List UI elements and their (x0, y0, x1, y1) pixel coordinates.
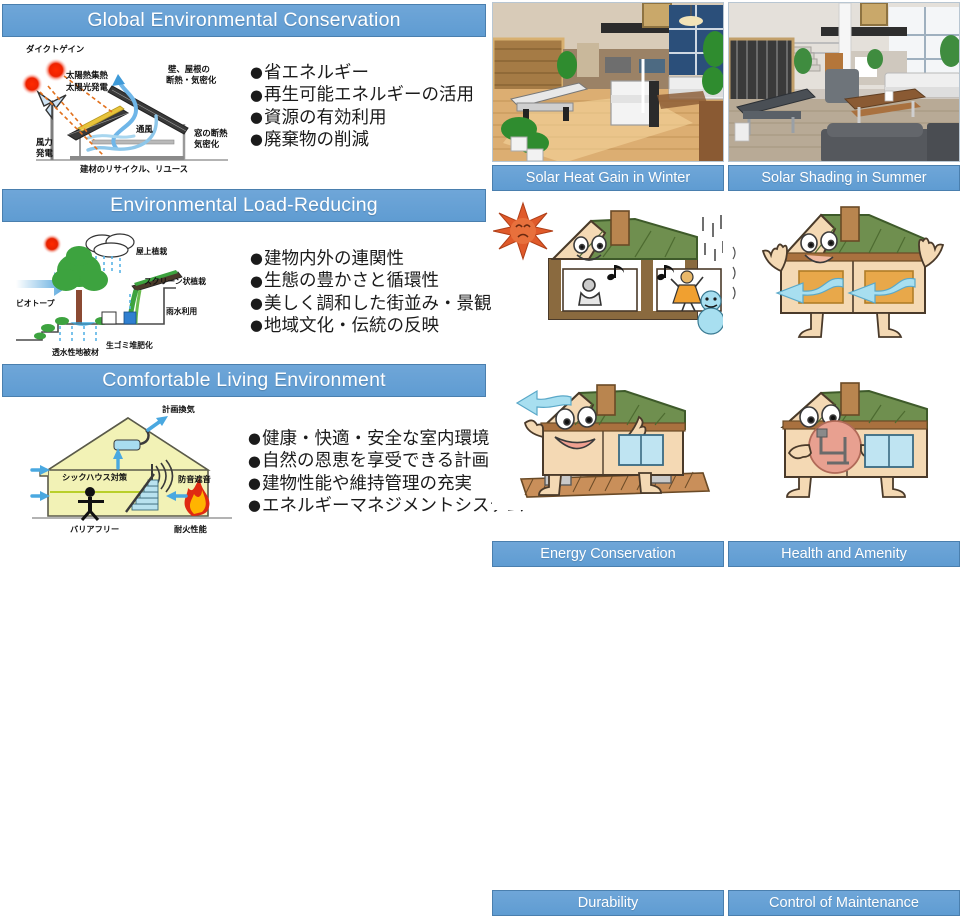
svg-text:ダイクトゲイン: ダイクトゲイン (26, 44, 84, 54)
svg-text:生ゴミ堆肥化: 生ゴミ堆肥化 (106, 340, 153, 350)
bullet-item: ●省エネルギー (250, 62, 369, 84)
bullet-item: ●自然の恩恵を享受できる計画 (248, 450, 489, 472)
svg-text:窓の断熱: 窓の断熱 (194, 128, 228, 138)
svg-text:風力: 風力 (36, 137, 53, 147)
bullet-item: ●地域文化・伝統の反映 (250, 315, 439, 337)
bullet-item: ●資源の有効利用 (250, 107, 386, 129)
bullet-item: ●生態の豊かさと循環性 (250, 270, 439, 292)
svg-text:透水性地被材: 透水性地被材 (52, 347, 99, 356)
bullet-marker-icon: ● (248, 474, 261, 492)
svg-text:通風: 通風 (136, 124, 153, 134)
svg-text:シックハウス対策: シックハウス対策 (62, 472, 128, 482)
svg-text:計画換気: 計画換気 (162, 404, 196, 414)
bullet-marker-icon: ● (250, 249, 263, 267)
bullet-marker-icon: ● (250, 294, 263, 312)
svg-text:耐火性能: 耐火性能 (174, 524, 208, 534)
svg-text:太陽光発電: 太陽光発電 (65, 82, 108, 92)
svg-text:壁、屋根の: 壁、屋根の (168, 64, 210, 74)
svg-text:防音遮音: 防音遮音 (178, 474, 211, 484)
panel-title-1: Global Environmental Conservation (2, 4, 486, 37)
bullet-item: ●健康・快適・安全な室内環境 (248, 428, 489, 450)
panel-title-2: Environmental Load-Reducing (2, 189, 486, 222)
bullet-item: ●建物内外の連関性 (250, 248, 404, 270)
bullet-item: ●エネルギーマネジメントシステム (248, 495, 524, 517)
card-caption: Health and Amenity (728, 541, 960, 567)
svg-text:スクリーン状植栽: スクリーン状植栽 (144, 276, 206, 286)
svg-text:発電: 発電 (35, 148, 53, 158)
panel-title-3: Comfortable Living Environment (2, 364, 486, 397)
card-caption: Energy Conservation (492, 541, 724, 567)
svg-text:気密化: 気密化 (194, 139, 220, 149)
svg-text:ビオトープ: ビオトープ (16, 298, 55, 308)
left-column: Global Environmental Conservation (0, 0, 490, 540)
panel-3-bullet-list: ●健康・快適・安全な室内環境 ●自然の恩恵を享受できる計画 ●建物性能や維持管理… (248, 428, 524, 518)
house-sketch-durability (492, 378, 724, 510)
bullet-marker-icon: ● (250, 63, 263, 81)
right-column: Solar Heat Gain in Winter (490, 0, 960, 540)
card-caption: Control of Maintenance (728, 890, 960, 916)
eco-house-energy-diagram: ダイクトゲイン 太陽熱集熱 太陽光発電 壁、屋根の 断熱・気密化 通風 窓の断熱… (8, 40, 238, 175)
panel-1-bullet-list: ●省エネルギー ●再生可能エネルギーの活用 ●資源の有効利用 ●廃棄物の削減 (250, 62, 474, 152)
svg-text:建材のリサイクル、リユース: 建材のリサイクル、リユース (79, 164, 188, 174)
card-caption: Solar Heat Gain in Winter (492, 165, 724, 191)
bullet-marker-icon: ● (250, 86, 263, 104)
svg-text:バリアフリー: バリアフリー (70, 524, 119, 534)
bullet-marker-icon: ● (248, 452, 261, 470)
svg-text:屋上植栽: 屋上植栽 (136, 246, 167, 256)
bullet-item: ●廃棄物の削減 (250, 129, 369, 151)
house-sketch-energy-conservation (492, 196, 724, 342)
comfortable-house-section-diagram: 計画換気 シックハウス対策 防音遮音 バリアフリー 耐火性能 (22, 400, 242, 536)
bullet-marker-icon: ● (248, 496, 261, 514)
svg-text:太陽熱集熱: 太陽熱集熱 (65, 70, 108, 80)
bullet-marker-icon: ● (250, 272, 263, 290)
bullet-marker-icon: ● (250, 130, 263, 148)
bullet-marker-icon: ● (248, 429, 261, 447)
card-caption: Durability (492, 890, 724, 916)
svg-text:断熱・気密化: 断熱・気密化 (166, 75, 217, 85)
bullet-marker-icon: ● (250, 108, 263, 126)
interior-photo-summer-shade (728, 2, 960, 162)
house-sketch-maintenance (728, 378, 960, 510)
bullet-item: ●再生可能エネルギーの活用 (250, 84, 474, 106)
biotope-greenery-diagram: ビオトープ 屋上植栽 スクリーン状植栽 雨水利用 生ゴミ堆肥化 透水性地被材 (14, 228, 242, 356)
svg-text:雨水利用: 雨水利用 (166, 306, 197, 316)
panel-2-bullet-list: ●建物内外の連関性 ●生態の豊かさと循環性 ●美しく調和した街並み・景観 ●地域… (250, 248, 491, 338)
slide-root: Global Environmental Conservation (0, 0, 960, 540)
house-sketch-health-amenity (728, 196, 960, 342)
card-caption: Solar Shading in Summer (728, 165, 960, 191)
bullet-item: ●美しく調和した街並み・景観 (250, 293, 491, 315)
bullet-marker-icon: ● (250, 316, 263, 334)
bullet-item: ●建物性能や維持管理の充実 (248, 473, 472, 495)
interior-photo-winter-sunlight (492, 2, 724, 162)
